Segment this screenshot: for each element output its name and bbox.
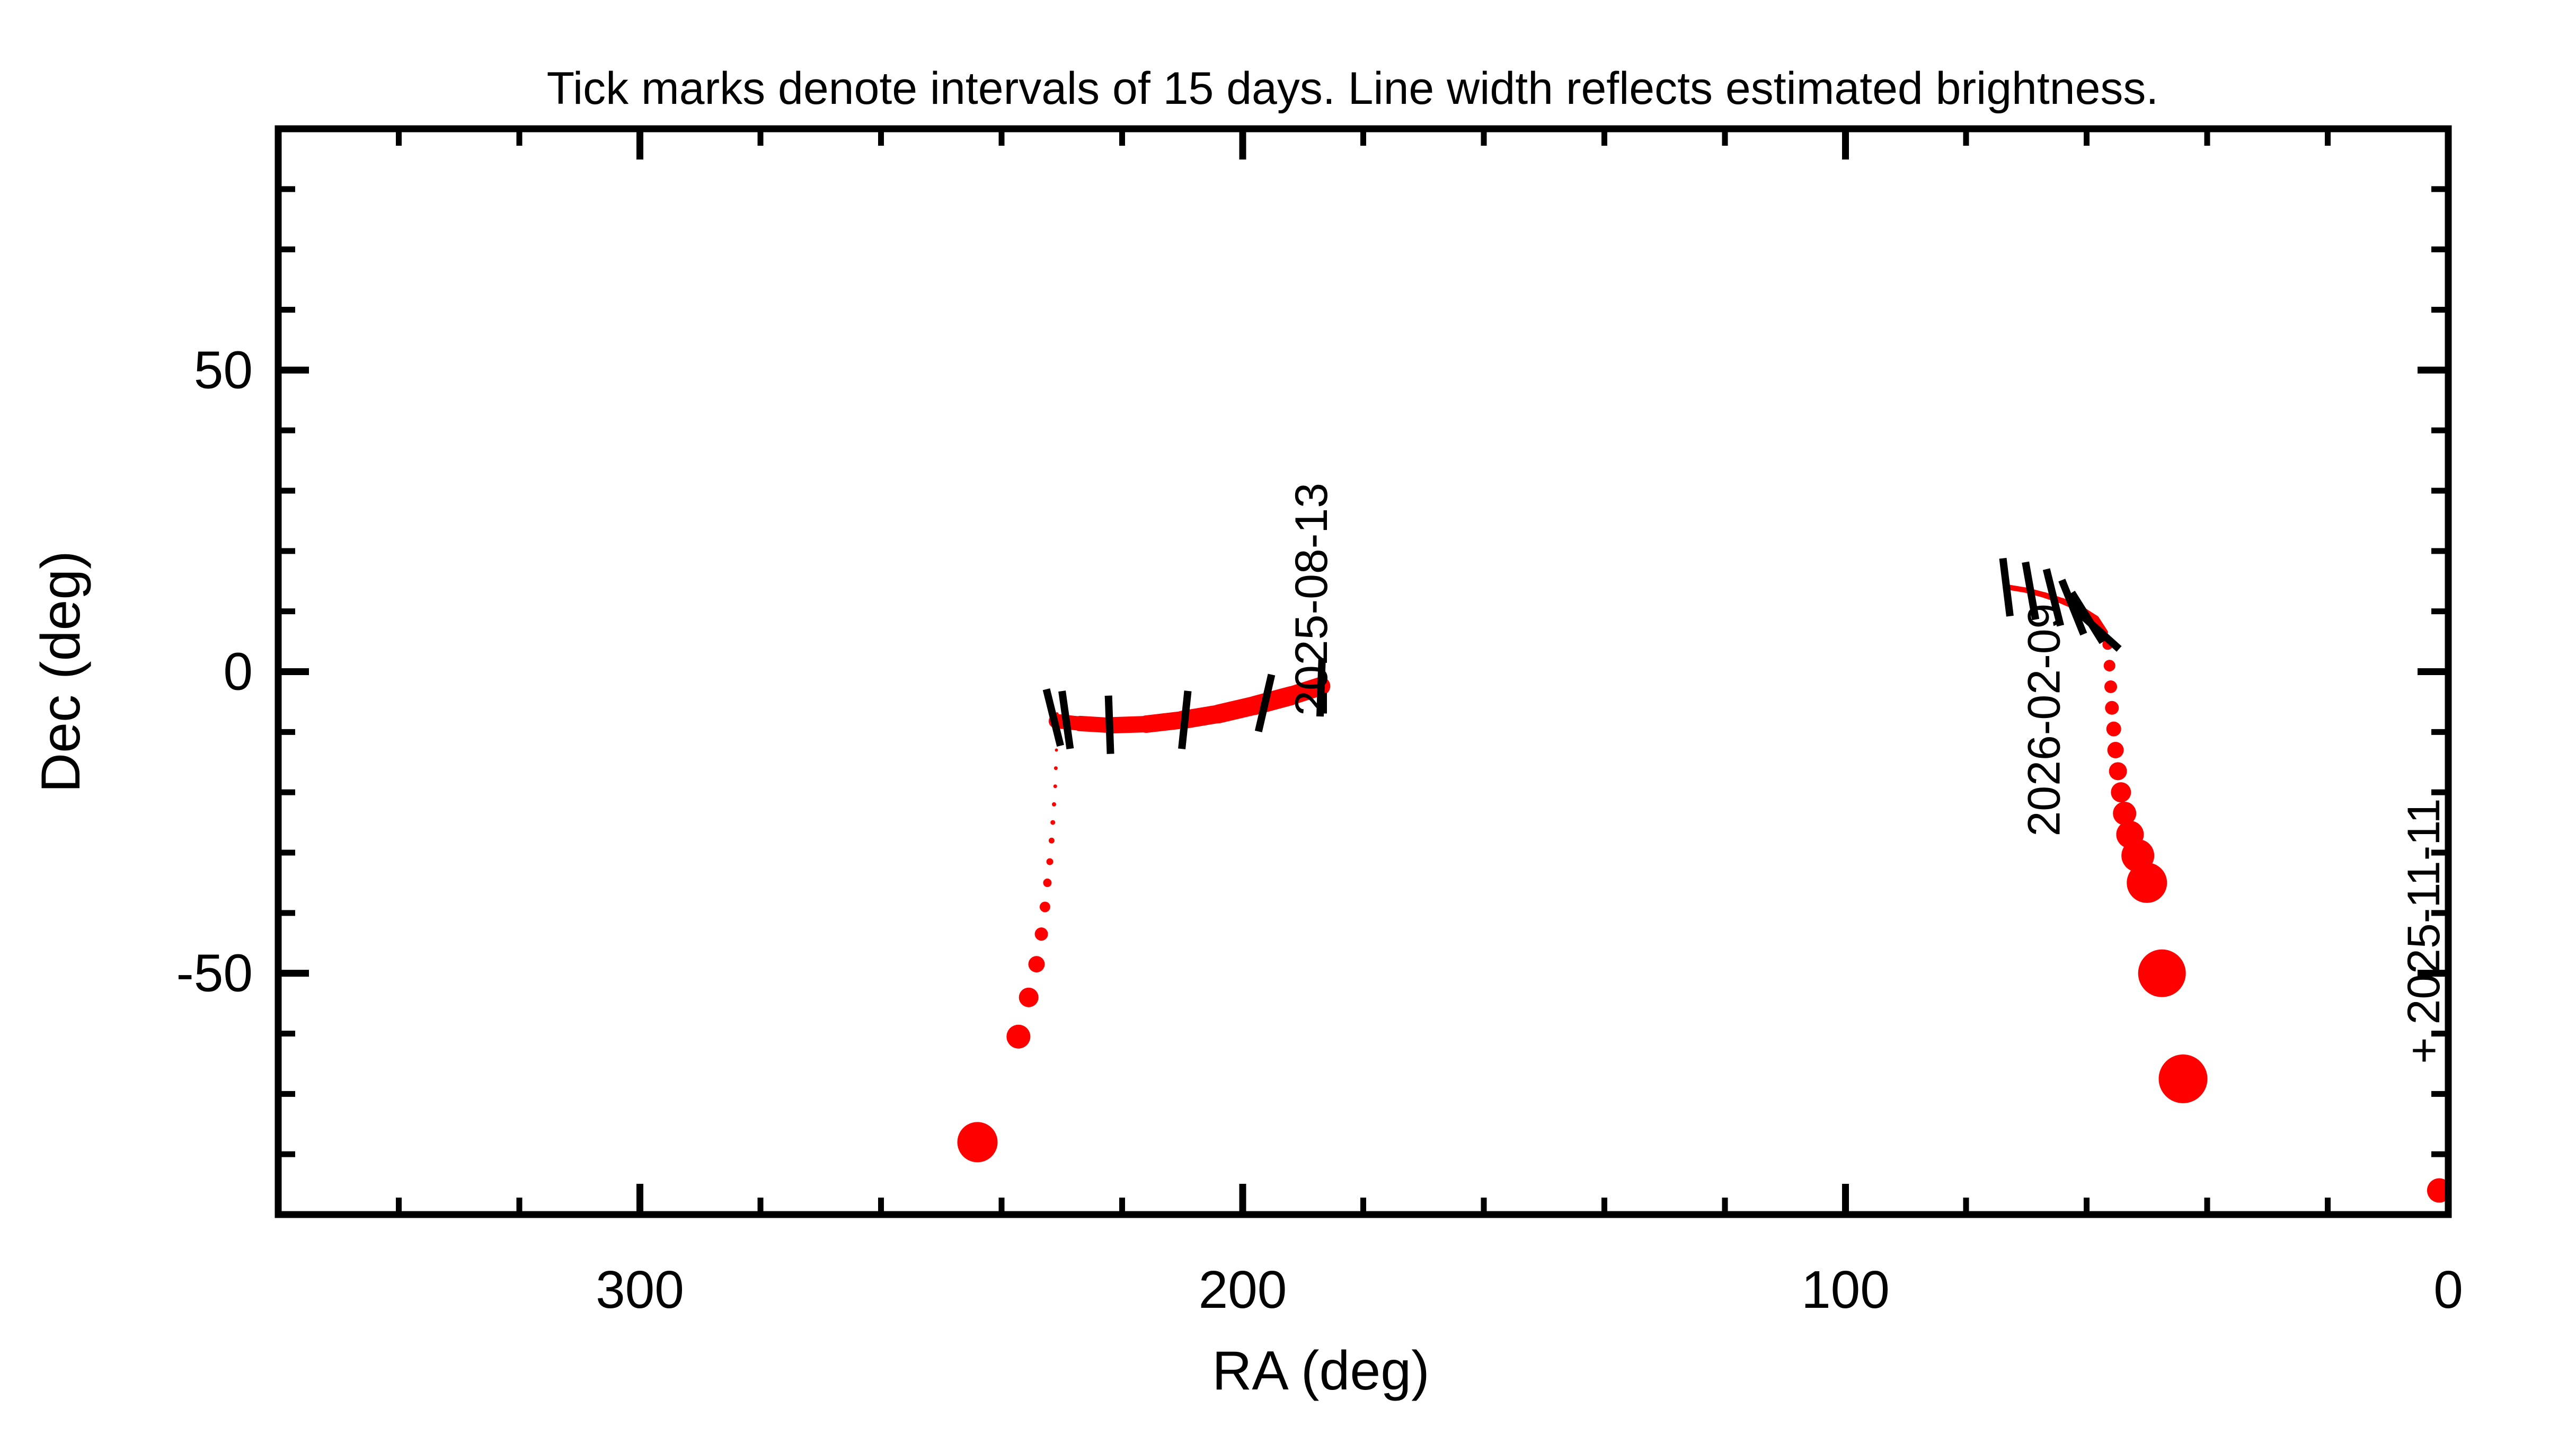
track-marker bbox=[1050, 820, 1055, 825]
date-label-2025-11-11: + 2025-11-11 bbox=[2398, 798, 2449, 1064]
chart-background bbox=[0, 0, 2576, 1435]
track-marker bbox=[1054, 784, 1057, 788]
track-marker bbox=[1049, 838, 1055, 844]
track-marker bbox=[958, 1122, 998, 1162]
x-axis-label: RA (deg) bbox=[1212, 1340, 1429, 1402]
y-tick-label: 0 bbox=[223, 642, 253, 702]
chart-canvas: Tick marks denote intervals of 15 days. … bbox=[0, 0, 2576, 1435]
track-marker bbox=[2106, 722, 2121, 737]
x-tick-label: 0 bbox=[2433, 1260, 2463, 1319]
x-tick-label: 100 bbox=[1801, 1260, 1890, 1319]
track-marker bbox=[2108, 742, 2124, 758]
track-marker bbox=[1035, 927, 1048, 941]
y-tick-label: 50 bbox=[194, 340, 253, 400]
track-marker bbox=[2159, 1055, 2208, 1103]
track-marker bbox=[1040, 901, 1050, 912]
track-marker bbox=[1028, 956, 1044, 972]
sky-track-chart: Tick marks denote intervals of 15 days. … bbox=[0, 0, 2576, 1435]
track-marker bbox=[2104, 680, 2117, 693]
track-marker bbox=[2109, 762, 2127, 780]
interval-tick bbox=[1109, 696, 1111, 754]
date-label-2025-08-13: 2025-08-13 bbox=[1286, 483, 1337, 716]
track-marker bbox=[1055, 748, 1058, 751]
track-marker bbox=[2104, 660, 2115, 671]
track-marker bbox=[1006, 1025, 1030, 1049]
chart-title: Tick marks denote intervals of 15 days. … bbox=[547, 63, 2159, 114]
track-marker bbox=[2105, 701, 2119, 715]
x-tick-label: 200 bbox=[1199, 1260, 1287, 1319]
date-label-2026-02-09: 2026-02-09 bbox=[2019, 604, 2069, 837]
y-tick-label: -50 bbox=[176, 944, 253, 1003]
track-marker bbox=[1019, 988, 1039, 1007]
track-marker bbox=[1047, 858, 1054, 865]
track-marker bbox=[2138, 950, 2186, 997]
track-marker bbox=[1054, 766, 1058, 770]
track-marker bbox=[1052, 802, 1056, 807]
y-axis-label: Dec (deg) bbox=[30, 551, 92, 793]
x-tick-label: 300 bbox=[596, 1260, 684, 1319]
track-marker bbox=[1043, 879, 1051, 887]
track-marker bbox=[2111, 782, 2131, 802]
track-marker bbox=[2127, 863, 2167, 903]
